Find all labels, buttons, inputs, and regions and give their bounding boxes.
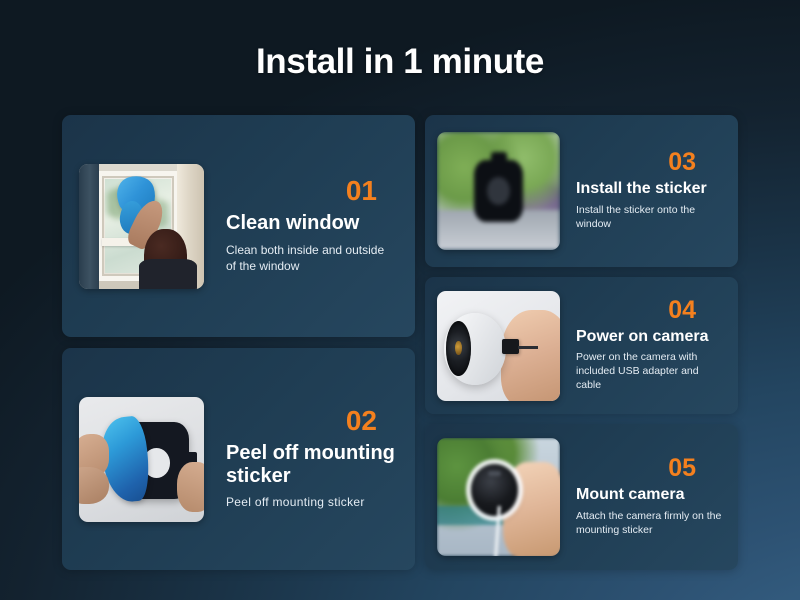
step-04-image: [437, 291, 560, 401]
step-03-image: [437, 132, 560, 250]
round-camera-shape: [471, 464, 518, 516]
hand-holding-usb-shape: [501, 310, 560, 400]
step-04-text-block: 04 Power on camera Power on the camera w…: [560, 298, 738, 393]
usb-connector-shape: [502, 339, 519, 354]
step-card-02[interactable]: 02 Peel off mounting sticker Peel off mo…: [62, 348, 415, 570]
step-02-number: 02: [226, 407, 397, 435]
sticker-on-window-photo: [437, 132, 560, 250]
camera-usb-adapter-photo: [437, 291, 560, 401]
step-03-number: 03: [576, 150, 724, 175]
step-02-image: [79, 397, 204, 522]
step-04-number: 04: [576, 298, 724, 323]
step-02-text-block: 02 Peel off mounting sticker Peel off mo…: [204, 407, 415, 512]
step-02-heading: Peel off mounting sticker: [226, 442, 397, 488]
mount-camera-photo: [437, 438, 560, 556]
window-cleaning-photo: [79, 164, 204, 289]
camera-body-shape: [444, 313, 506, 386]
step-01-number: 01: [226, 177, 397, 205]
step-card-05[interactable]: 05 Mount camera Attach the camera firmly…: [425, 424, 738, 570]
hand-finger-right-shape: [177, 462, 205, 512]
step-card-04[interactable]: 04 Power on camera Power on the camera w…: [425, 277, 738, 414]
curtain-left-shape: [79, 164, 99, 289]
camera-lens-shape: [446, 321, 472, 376]
step-01-description: Clean both inside and outside of the win…: [226, 243, 397, 275]
step-05-heading: Mount camera: [576, 486, 724, 504]
page-title: Install in 1 minute: [0, 42, 800, 82]
person-body-shape: [139, 259, 197, 289]
step-02-description: Peel off mounting sticker: [226, 495, 397, 511]
step-05-description: Attach the camera firmly on the mounting…: [576, 510, 724, 538]
infographic-canvas: Install in 1 minute 01 Cl: [0, 0, 800, 600]
step-01-heading: Clean window: [226, 212, 397, 235]
step-01-text-block: 01 Clean window Clean both inside and ou…: [204, 177, 415, 275]
installed-sticker-shape: [474, 160, 523, 221]
step-04-description: Power on the camera with included USB ad…: [576, 351, 724, 393]
mounting-sticker-peel-photo: [79, 397, 204, 522]
step-03-text-block: 03 Install the sticker Install the stick…: [560, 150, 738, 231]
step-card-01[interactable]: 01 Clean window Clean both inside and ou…: [62, 115, 415, 337]
step-01-image: [79, 164, 204, 289]
usb-cable-shape: [518, 346, 538, 349]
step-05-number: 05: [576, 456, 724, 481]
step-05-image: [437, 438, 560, 556]
step-03-heading: Install the sticker: [576, 180, 724, 198]
step-card-03[interactable]: 03 Install the sticker Install the stick…: [425, 115, 738, 267]
step-04-heading: Power on camera: [576, 328, 724, 346]
step-05-text-block: 05 Mount camera Attach the camera firmly…: [560, 456, 738, 537]
step-03-description: Install the sticker onto the window: [576, 204, 724, 232]
